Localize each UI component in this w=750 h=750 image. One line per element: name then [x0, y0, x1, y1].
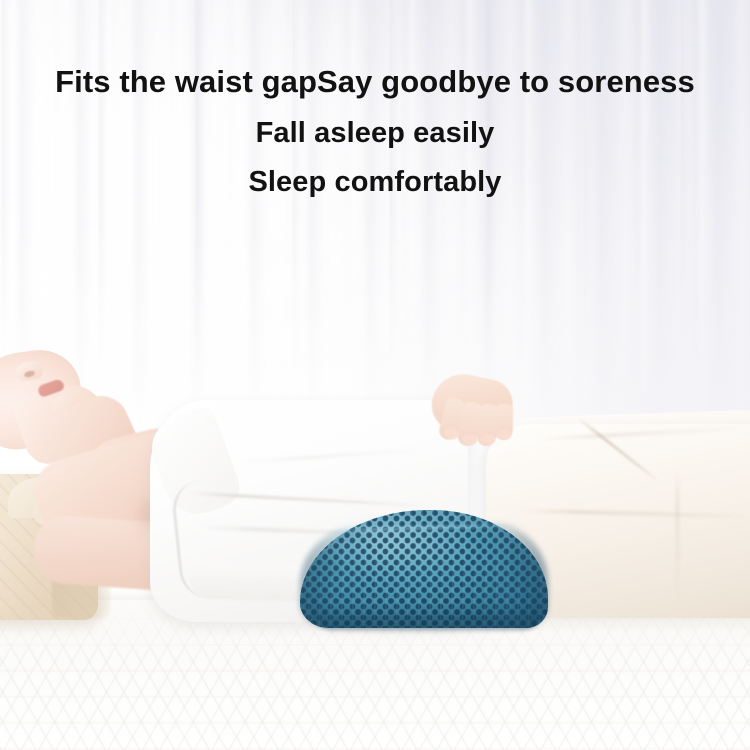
headline-line-3: Sleep comfortably — [0, 168, 750, 197]
marketing-headline: Fits the waist gapSay goodbye to sorenes… — [0, 66, 750, 197]
product-image-canvas: Fits the waist gapSay goodbye to sorenes… — [0, 0, 750, 750]
model-fingernail-pinky — [497, 430, 511, 439]
headline-line-2: Fall asleep easily — [0, 119, 750, 148]
blanket-fold-vertical — [676, 470, 679, 600]
curtain-pleats-secondary — [0, 0, 750, 400]
lumbar-pillow-bottom-shading — [308, 606, 542, 630]
lumbar-support-pillow — [300, 510, 548, 630]
headline-line-1: Fits the waist gapSay goodbye to sorenes… — [0, 66, 750, 97]
